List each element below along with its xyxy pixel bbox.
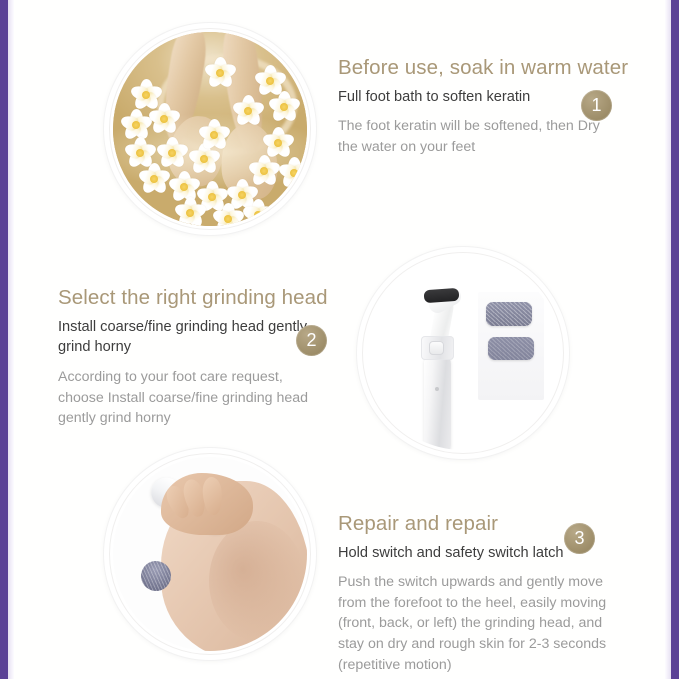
device-with-grinding-heads-photo [357,247,569,459]
coarse-grinding-head-refill [486,302,532,326]
step-1-body: The foot keratin will be softened, then … [338,116,608,157]
step-1-subtitle: Full foot bath to soften keratin [338,87,608,108]
frangipani-flower-icon [149,104,179,134]
frangipani-flower-icon [175,198,205,226]
frangipani-flower-icon [255,66,285,96]
left-purple-border [0,0,8,679]
step-2-body: According to your foot care request, cho… [58,367,316,429]
frangipani-flower-icon [233,96,263,126]
device-handle [424,351,451,450]
step-1-text-block: Before use, soak in warm water Full foot… [338,56,608,157]
frangipani-flower-icon [199,120,229,150]
frangipani-flower-icon [139,164,169,194]
frangipani-flower-icon [279,158,307,188]
step-2-subtitle: Install coarse/fine grinding head gently… [58,317,316,358]
infographic-page: Before use, soak in warm water Full foot… [0,0,679,679]
frangipani-flower-icon [263,128,293,158]
black-grinding-roller [424,288,460,303]
device-power-button [429,341,444,355]
step-3-number-badge: 3 [564,523,595,554]
photo-inner-soak [113,32,307,226]
heel-shading [209,521,305,641]
feet-soaking-in-flower-water-photo [104,23,316,235]
frangipani-flower-icon [205,58,235,88]
step-3-body: Push the switch upwards and gently move … [338,572,620,675]
step-1-title: Before use, soak in warm water [338,56,608,80]
step-2-text-block: Select the right grinding head Install c… [58,286,316,429]
step-2-number-badge: 2 [296,325,327,356]
device-indicator-dot [435,387,439,391]
frangipani-flower-icon [121,110,151,140]
right-border-tint [665,0,671,679]
photo-inner-use [113,457,307,651]
device-used-on-heel-photo [104,448,316,660]
frangipani-flower-icon [213,204,243,226]
left-border-tint [8,0,14,679]
photo-inner-heads [366,256,560,450]
frangipani-flower-icon [269,92,299,122]
step-1-number-badge: 1 [581,90,612,121]
right-purple-border [671,0,679,679]
fine-grinding-head-refill [488,337,534,360]
step-2-title: Select the right grinding head [58,286,316,310]
frangipani-flower-icon [243,200,273,226]
frangipani-flower-icon [249,156,279,186]
